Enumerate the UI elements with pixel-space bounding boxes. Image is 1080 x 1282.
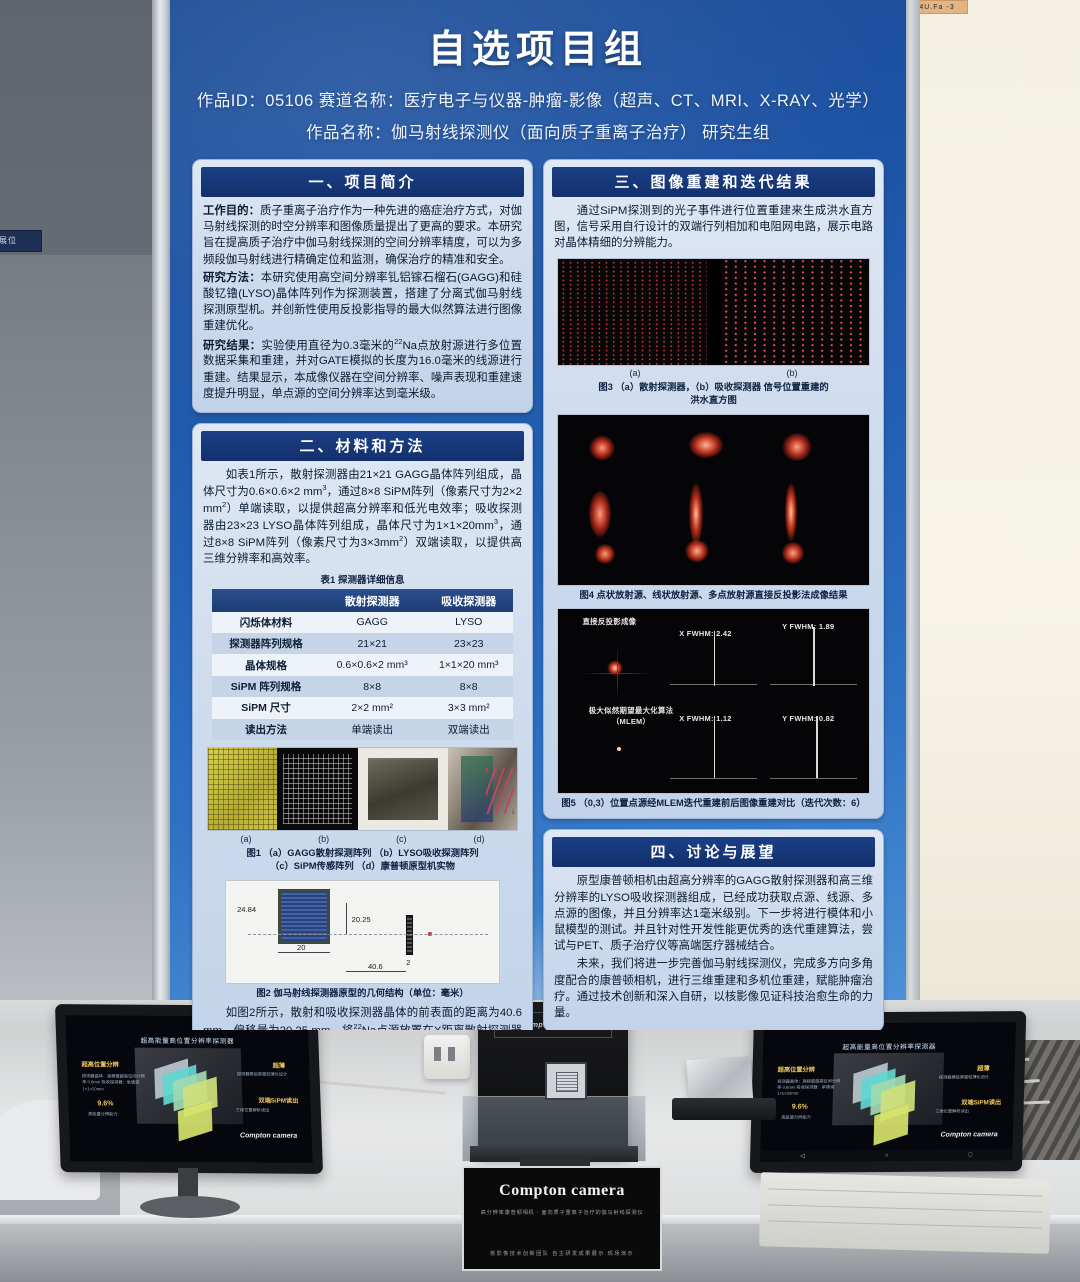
recents-icon[interactable]: □ bbox=[969, 1152, 973, 1158]
figure-1-caption-line-2: （c）SiPM传感阵列 （d）康普顿原型机实物 bbox=[199, 860, 526, 873]
s1-p2-label: 研究方法： bbox=[203, 272, 261, 284]
figure-1-sublabel: (a) bbox=[207, 834, 285, 844]
table-cell: 双端读出 bbox=[425, 719, 513, 740]
tablet-badge-right-bottom: 双端SiPM读出 bbox=[961, 1097, 1001, 1106]
section-4-title: 四、讨论与展望 bbox=[552, 837, 875, 867]
mlem-x-peak bbox=[714, 716, 715, 779]
section-3-title: 三、图像重建和迭代结果 bbox=[552, 167, 875, 197]
table-cell: 2×2 mm² bbox=[320, 697, 425, 718]
schematic-dim-height: 24.84 bbox=[237, 905, 256, 914]
schematic-dim-offset: 20.25 bbox=[352, 915, 371, 924]
poster-columns: 一、项目简介 工作目的：质子重离子治疗作为一种先进的癌症治疗方式，对伽马射线探测… bbox=[170, 149, 906, 1030]
tablet-badge-right-top-note: 探测器模组厚度轻薄化设计 bbox=[237, 1072, 300, 1079]
bp-y-peak bbox=[813, 627, 815, 686]
tablet-brand-label: Compton camera bbox=[940, 1131, 997, 1138]
table-cell: SiPM 阵列规格 bbox=[212, 676, 320, 697]
figure-5-row-2-label-line-2: （MLEM） bbox=[589, 716, 674, 727]
device-sensor-window bbox=[545, 1062, 587, 1100]
schematic-offset-rule bbox=[346, 903, 347, 934]
adapter-socket-slot bbox=[434, 1047, 441, 1061]
placard-footer: 核影像技术创新团队 自主研发成果展示 现场演示 bbox=[490, 1250, 634, 1257]
table-row: 晶体规格 0.6×0.6×2 mm³ 1×1×20 mm³ bbox=[212, 654, 513, 675]
section-1-panel: 一、项目简介 工作目的：质子重离子治疗作为一种先进的癌症治疗方式，对伽马射线探测… bbox=[192, 159, 533, 413]
mlem-y-peak bbox=[816, 716, 817, 779]
figure-3-sublabels: (a) (b) bbox=[557, 368, 871, 378]
table-row: SiPM 阵列规格 8×8 8×8 bbox=[212, 676, 513, 697]
tablet-badge-right-top: 超薄 bbox=[272, 1060, 285, 1069]
back-icon[interactable]: ◁ bbox=[800, 1153, 805, 1160]
figure-5-bp-x-fwhm: X FWHM: 2.42 bbox=[679, 629, 731, 638]
recon-blob bbox=[685, 540, 709, 562]
tablet-badge-right-top-note: 探测器模组厚度轻薄化设计 bbox=[939, 1075, 1005, 1082]
photo-gagg-array bbox=[208, 748, 277, 830]
section-1-title: 一、项目简介 bbox=[201, 167, 524, 197]
schematic-dim-distance: 40.6 bbox=[368, 962, 383, 971]
tablet-badge-right-top: 超薄 bbox=[977, 1064, 990, 1073]
table-cell: 21×21 bbox=[320, 633, 425, 654]
figure-4-caption: 图4 点状放射源、线状放射源、多点放射源直接反投影法成像结果 bbox=[550, 589, 877, 602]
s2-f-sup: 22 bbox=[353, 1022, 361, 1030]
bp-y-baseline bbox=[770, 684, 857, 685]
table-cell: 0.6×0.6×2 mm³ bbox=[320, 654, 425, 675]
table-cell: 8×8 bbox=[320, 676, 425, 697]
photo-lyso-array bbox=[277, 748, 358, 830]
recon-blob bbox=[689, 483, 703, 545]
table-1-caption: 表1 探测器详细信息 bbox=[199, 572, 526, 586]
tablet-screen-title: 超高能量高位置分辨率探测器 bbox=[66, 1034, 309, 1046]
detector-table-body: 闪烁体材料 GAGG LYSO 探测器阵列规格 21×21 23×23 晶体规格 bbox=[212, 612, 513, 740]
figure-1-photo-strip bbox=[207, 747, 518, 831]
section-1-body: 工作目的：质子重离子治疗作为一种先进的癌症治疗方式，对伽马射线探测的时空分辨率和… bbox=[199, 203, 526, 402]
crystal-sample-base bbox=[672, 1098, 776, 1120]
s1-p3-label: 研究结果： bbox=[203, 339, 261, 351]
table-row: 探测器阵列规格 21×21 23×23 bbox=[212, 633, 513, 654]
figure-5-mlem-y-fwhm: Y FWHM: 0.82 bbox=[782, 714, 834, 723]
tablet-brand-label: Compton camera bbox=[240, 1132, 297, 1139]
tablet-badge-left: 超高位置分辨 bbox=[81, 1059, 118, 1068]
section-4-body: 原型康普顿相机由超高分辨率的GAGG散射探测器和高三维分辨率的LYSO吸收探测器… bbox=[550, 873, 877, 1021]
schematic-distance-rule bbox=[346, 971, 406, 972]
tablet-detector-stack-graphic bbox=[852, 1064, 929, 1125]
section-3-panel: 三、图像重建和迭代结果 通过SiPM探测到的光子事件进行位置重建来生成洪水直方图… bbox=[543, 159, 884, 819]
schematic-scatter-detector bbox=[278, 889, 330, 944]
exhibit-placard: Compton camera 高分辨率康普顿相机 · 面向质子重离子治疗的伽马射… bbox=[462, 1166, 662, 1271]
figure-5-bp-y-fwhm: Y FWHM: 1.89 bbox=[782, 622, 834, 631]
booth-wall-sign: 展位 bbox=[0, 230, 42, 252]
schematic-axis-dashline bbox=[248, 934, 488, 935]
schematic-absorber-detector bbox=[406, 915, 413, 956]
table-cell: 23×23 bbox=[425, 633, 513, 654]
photo-sipm-array bbox=[358, 748, 447, 830]
tablet-detector-stack-graphic bbox=[154, 1060, 229, 1125]
flood-histogram-scatter bbox=[558, 259, 707, 365]
table-row: SiPM 尺寸 2×2 mm² 3×3 mm² bbox=[212, 697, 513, 718]
photo-prototype bbox=[448, 748, 517, 830]
table-header-cell: 散射探测器 bbox=[320, 589, 425, 611]
table-header-row: 散射探测器 吸收探测器 bbox=[212, 589, 513, 611]
poster-board: 自选项目组 作品ID：05106 赛道名称：医疗电子与仪器-肿瘤-影像（超声、C… bbox=[170, 0, 906, 1030]
bp-x-peak bbox=[714, 631, 716, 686]
tablet-badge-right-bottom-note: 三维位置解析读出 bbox=[935, 1108, 1001, 1115]
figure-3-caption: 图3 （a）散射探测器，（b）吸收探测器 信号位置重建的 洪水直方图 bbox=[550, 381, 877, 408]
s1-p1-label: 工作目的： bbox=[203, 205, 260, 217]
section-4-panel: 四、讨论与展望 原型康普顿相机由超高分辨率的GAGG散射探测器和高三维分辨率的L… bbox=[543, 829, 884, 1030]
tablet-stand-base bbox=[140, 1196, 240, 1218]
recon-blob bbox=[785, 483, 797, 541]
figure-1-sublabels: (a) (b) (c) (d) bbox=[207, 834, 518, 844]
tablet-percent: 9.6% bbox=[97, 1100, 113, 1107]
table-row: 读出方法 单端读出 双端读出 bbox=[212, 719, 513, 740]
android-nav-bar[interactable]: ◁ ○ □ bbox=[760, 1149, 1012, 1162]
section-1-paragraph-1: 工作目的：质子重离子治疗作为一种先进的癌症治疗方式，对伽马射线探测的时空分辨率和… bbox=[203, 203, 522, 268]
table-cell: 1×1×20 mm³ bbox=[425, 654, 513, 675]
section-4-paragraph-1: 原型康普顿相机由超高分辨率的GAGG散射探测器和高三维分辨率的LYSO吸收探测器… bbox=[554, 873, 873, 954]
tablet-screen-title: 超高能量高位置分辨率探测器 bbox=[763, 1040, 1015, 1052]
screenshot-stage: 展位 4U.Fa -3 自选项目组 作品ID：05106 赛道名称：医疗电子与仪… bbox=[0, 0, 1080, 1282]
table-header-cell bbox=[212, 589, 320, 611]
mlem-point-source bbox=[617, 747, 621, 751]
tablet-right[interactable]: 超高能量高位置分辨率探测器 超高位置分辨 探测器晶体：高精度超高空间分辨率 0.… bbox=[750, 1011, 1027, 1173]
poster-subtitle-1: 作品ID：05106 赛道名称：医疗电子与仪器-肿瘤-影像（超声、CT、MRI、… bbox=[180, 87, 896, 111]
figure-1-sublabel: (c) bbox=[362, 834, 440, 844]
section-1-paragraph-2: 研究方法：本研究使用高空间分辨率钆铝镓石榴石(GAGG)和硅酸钇镥(LYSO)晶… bbox=[203, 270, 522, 335]
table-cell: 3×3 mm² bbox=[425, 697, 513, 718]
table-cell: LYSO bbox=[425, 612, 513, 633]
power-adapter bbox=[424, 1035, 470, 1079]
figure-1-caption: 图1 （a）GAGG散射探测阵列 （b）LYSO吸收探测阵列 （c）SiPM传感… bbox=[199, 847, 526, 874]
right-wall bbox=[908, 0, 1080, 1010]
section-2-paragraph-2-wrap: 如图2所示，散射和吸收探测器晶体的前表面的距离为40.6 mm，偏移量为20.2… bbox=[199, 1005, 526, 1030]
figure-3-image bbox=[557, 258, 871, 366]
table-cell: 8×8 bbox=[425, 676, 513, 697]
section-2-title: 二、材料和方法 bbox=[201, 431, 524, 461]
schematic-dim-width: 20 bbox=[297, 943, 305, 952]
bp-streak-v bbox=[617, 646, 618, 701]
tablet-percent: 9.6% bbox=[792, 1104, 808, 1111]
recon-blob bbox=[595, 544, 615, 564]
poster-header: 自选项目组 作品ID：05106 赛道名称：医疗电子与仪器-肿瘤-影像（超声、C… bbox=[170, 0, 906, 149]
tablet-left-screen[interactable]: 超高能量高位置分辨率探测器 超高位置分辨 探测器晶体：高精度超高空间分辨率 0.… bbox=[65, 1015, 312, 1163]
tablet-badge-left: 超高位置分辨 bbox=[778, 1065, 815, 1074]
poster-subtitle-2: 作品名称：伽马射线探测仪（面向质子重离子治疗） 研究生组 bbox=[180, 119, 896, 143]
table-cell: 探测器阵列规格 bbox=[212, 633, 320, 654]
detector-table: 散射探测器 吸收探测器 闪烁体材料 GAGG LYSO 探测器阵列规 bbox=[212, 589, 513, 740]
figure-2-caption: 图2 伽马射线探测器原型的几何结构（单位：毫米） bbox=[199, 987, 526, 1000]
figure-3-caption-line-1: 图3 （a）散射探测器，（b）吸收探测器 信号位置重建的 bbox=[550, 381, 877, 394]
bp-x-baseline bbox=[670, 684, 757, 685]
flood-histogram-gap bbox=[707, 259, 721, 365]
table-cell: 单端读出 bbox=[320, 719, 425, 740]
schematic-width-rule bbox=[278, 952, 330, 953]
tablet-badge-right-bottom-note: 三维位置解析读出 bbox=[236, 1107, 299, 1114]
figure-3-sublabel: (a) bbox=[557, 368, 714, 378]
tablet-badge-right-bottom: 双端SiPM读出 bbox=[258, 1095, 298, 1104]
flood-histogram-pair bbox=[558, 259, 870, 365]
tablet-badge-left-note: 探测器晶体：高精度超高空间分辨率 0.6mm 吸收探测器：单通道1×1×20mm bbox=[777, 1079, 843, 1098]
poster-frame-left bbox=[152, 0, 172, 1010]
mlem-x-baseline bbox=[670, 778, 757, 779]
figure-5-image: 直接反投影成像 X FWHM: 2.42 Y FWHM: 1.89 极大似然期望… bbox=[557, 608, 871, 794]
schematic-dim-thin: 2 bbox=[406, 958, 410, 967]
section-2-paragraph-2: 如图2所示，散射和吸收探测器晶体的前表面的距离为40.6 mm，偏移量为20.2… bbox=[203, 1005, 522, 1030]
recon-blob bbox=[589, 435, 615, 461]
figure-5-row-2-label: 极大似然期望最大化算法 （MLEM） bbox=[589, 705, 674, 727]
detector-table-head: 散射探测器 吸收探测器 bbox=[212, 589, 513, 611]
section-4-paragraph-2: 未来，我们将进一步完善伽马射线探测仪，完成多方向多角度配合的康普顿相机，进行三维… bbox=[554, 956, 873, 1021]
placard-title: Compton camera bbox=[499, 1182, 625, 1200]
tablet-right-screen[interactable]: 超高能量高位置分辨率探测器 超高位置分辨 探测器晶体：高精度超高空间分辨率 0.… bbox=[760, 1022, 1016, 1162]
table-row: 闪烁体材料 GAGG LYSO bbox=[212, 612, 513, 633]
tablet-badge-left-note: 探测器晶体：高精度超高空间分辨率 0.6mm 吸收探测器：单通道1×1×20mm bbox=[82, 1074, 146, 1093]
figure-1-caption-line-1: 图1 （a）GAGG散射探测阵列 （b）LYSO吸收探测阵列 bbox=[199, 847, 526, 860]
tablet-percent-note: 高能量分辨能力 bbox=[88, 1112, 146, 1118]
figure-5-caption: 图5 （0,3）位置点源经MLEM迭代重建前后图像重建对比（迭代次数：6） bbox=[550, 797, 877, 810]
section-2-panel: 二、材料和方法 如表1所示，散射探测器由21×21 GAGG晶体阵列组成，晶体尺… bbox=[192, 423, 533, 1030]
s2-text-c: ）单端读取，以提供超高分辨率和低光电效率；吸收探测器由23×23 LYSO晶体阵… bbox=[203, 503, 522, 532]
figure-5-row-2-label-line-1: 极大似然期望最大化算法 bbox=[589, 705, 674, 716]
recon-blob bbox=[782, 433, 812, 461]
table-cell: 读出方法 bbox=[212, 719, 320, 740]
section-3-body: 通过SiPM探测到的光子事件进行位置重建来生成洪水直方图，信号采用自行设计的双端… bbox=[550, 203, 877, 252]
section-3-paragraph: 通过SiPM探测到的光子事件进行位置重建来生成洪水直方图，信号采用自行设计的双端… bbox=[554, 203, 873, 252]
figure-1-sublabel: (b) bbox=[285, 834, 363, 844]
mlem-y-baseline bbox=[770, 778, 857, 779]
section-1-paragraph-3: 研究结果：实验使用直径为0.3毫米的22Na点放射源进行多位置数据采集和重建，并… bbox=[203, 337, 522, 403]
figure-1-sublabel: (d) bbox=[440, 834, 518, 844]
poster-title: 自选项目组 bbox=[180, 18, 896, 73]
placard-subtitle: 高分辨率康普顿相机 · 面向质子重离子治疗的伽马射线探测仪 bbox=[481, 1209, 644, 1216]
table-cell: 晶体规格 bbox=[212, 654, 320, 675]
poster-column-right: 三、图像重建和迭代结果 通过SiPM探测到的光子事件进行位置重建来生成洪水直方图… bbox=[543, 159, 884, 1030]
table-cell: GAGG bbox=[320, 612, 425, 633]
figure-3-sublabel: (b) bbox=[714, 368, 871, 378]
device-sensor-array bbox=[556, 1072, 578, 1092]
keyboard[interactable] bbox=[759, 1172, 1051, 1254]
table-cell: 闪烁体材料 bbox=[212, 612, 320, 633]
left-wall-lower bbox=[0, 255, 160, 1000]
table-cell: SiPM 尺寸 bbox=[212, 697, 320, 718]
figure-2-schematic: 24.84 20 20.25 40.6 2 bbox=[225, 880, 500, 984]
recon-blob bbox=[589, 491, 611, 537]
home-icon[interactable]: ○ bbox=[885, 1152, 889, 1158]
s1-p3-text-a: 实验使用直径为0.3毫米的 bbox=[261, 339, 394, 351]
recon-blob bbox=[689, 432, 723, 458]
poster-column-left: 一、项目简介 工作目的：质子重离子治疗作为一种先进的癌症治疗方式，对伽马射线探测… bbox=[192, 159, 533, 1030]
tablet-percent-note: 高能量分辨能力 bbox=[781, 1114, 842, 1121]
section-2-body: 如表1所示，散射探测器由21×21 GAGG晶体阵列组成，晶体尺寸为0.6×0.… bbox=[199, 467, 526, 567]
figure-5-row-1-label: 直接反投影成像 bbox=[582, 616, 636, 627]
table-header-cell: 吸收探测器 bbox=[425, 589, 513, 611]
booth-wall-sign-label: 展位 bbox=[0, 231, 41, 250]
section-2-paragraph: 如表1所示，散射探测器由21×21 GAGG晶体阵列组成，晶体尺寸为0.6×0.… bbox=[203, 467, 522, 567]
flood-histogram-absorber bbox=[721, 259, 870, 365]
figure-5-mlem-x-fwhm: X FWHM: 1.12 bbox=[679, 714, 731, 723]
figure-4-image bbox=[557, 414, 871, 586]
adapter-socket-slot bbox=[448, 1047, 455, 1061]
figure-3-caption-line-2: 洪水直方图 bbox=[550, 394, 877, 407]
recon-blob bbox=[782, 542, 804, 564]
